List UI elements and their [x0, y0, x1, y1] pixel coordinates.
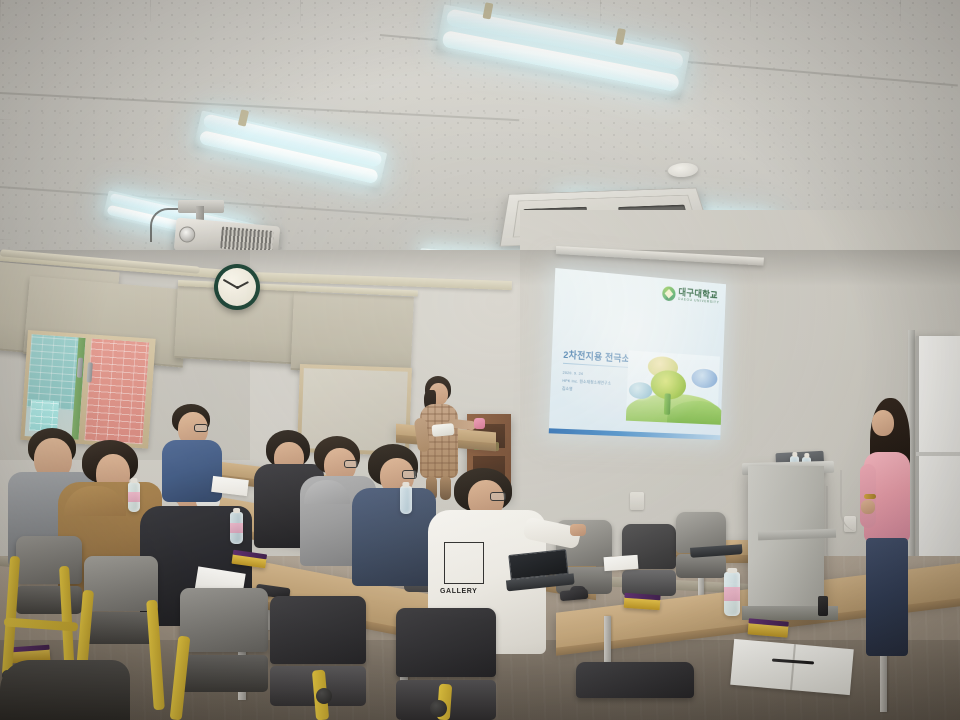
- slide-artwork: [626, 350, 720, 424]
- bottle-label: [128, 492, 140, 502]
- chair-seat: [622, 570, 676, 596]
- daegu-logo-icon: [662, 286, 676, 302]
- classroom-scene: 대구대학교 DAEGU UNIVERSITY 2차전지용 전극소재 2020. …: [0, 0, 960, 720]
- attendee-hand: [570, 524, 586, 536]
- office-chair[interactable]: [84, 556, 158, 644]
- bottle-label: [724, 587, 740, 601]
- chair-seat: [0, 660, 130, 720]
- office-chair[interactable]: [576, 662, 694, 720]
- chair-caster: [430, 700, 447, 717]
- bottle-cap: [804, 453, 809, 458]
- eyeglasses: [402, 470, 417, 479]
- water-bottle: [128, 482, 140, 512]
- laptop[interactable]: [508, 549, 569, 591]
- chair-seat: [180, 655, 268, 692]
- host-hands: [861, 500, 875, 514]
- host-jeans: [866, 538, 908, 656]
- sweatshirt-graphic-box: [444, 542, 484, 584]
- chair-caster: [316, 688, 332, 704]
- sweatshirt-graphic-text: GALLERY: [440, 588, 477, 595]
- bottle-cap: [727, 568, 737, 573]
- chair-back: [270, 596, 366, 664]
- slide-meta: 2020. 9. 24 HPK Inc. 원소재정소재연구소 김소영: [562, 369, 612, 396]
- clock-minute-hand: [223, 279, 238, 288]
- bottle-cap: [130, 478, 137, 483]
- office-chair[interactable]: [180, 588, 268, 692]
- chair-back: [16, 536, 82, 584]
- floor-power-box: [818, 596, 828, 616]
- attendee-blue-vest-body: [162, 440, 222, 502]
- bottle-cap: [233, 508, 241, 513]
- bottle-cap: [792, 452, 797, 457]
- water-bottle: [724, 572, 740, 616]
- clock-face: [218, 268, 256, 306]
- chair-seat: [16, 586, 82, 614]
- host-woman-right: [858, 398, 920, 666]
- eyeglasses: [194, 424, 208, 432]
- attendee-navy-shirt-body: [352, 488, 436, 586]
- office-chair[interactable]: [16, 536, 82, 614]
- power-cable: [826, 486, 840, 566]
- chair-back: [396, 608, 496, 677]
- bottle-label: [230, 523, 243, 533]
- presentation-slide: 대구대학교 DAEGU UNIVERSITY 2차전지용 전극소재 2020. …: [549, 268, 726, 440]
- presenter-held-sample: [474, 418, 485, 429]
- eyeglasses: [490, 492, 506, 501]
- wall-outlet[interactable]: [630, 492, 644, 510]
- attendee-navy-shirt: [352, 444, 438, 584]
- bottle-cap: [402, 482, 409, 487]
- notebook-spine: [790, 644, 796, 690]
- office-chair[interactable]: [0, 660, 130, 720]
- lectern-podium: [748, 466, 824, 616]
- paper-sheet[interactable]: [604, 555, 639, 571]
- artwork-tree-trunk: [664, 393, 671, 415]
- window-blind-far: [291, 292, 414, 375]
- presenter-held-tray: [432, 423, 455, 437]
- water-bottle: [230, 512, 243, 544]
- wall-clock: [214, 264, 260, 310]
- slide-footer-bar: [549, 428, 721, 440]
- window-glass-left: [25, 334, 86, 440]
- projector-grille: [220, 227, 274, 253]
- chair-seat: [676, 554, 726, 578]
- water-bottle: [400, 486, 412, 514]
- host-wristwatch: [864, 494, 876, 499]
- whiteboard-rail: [916, 452, 960, 456]
- university-logo: 대구대학교 DAEGU UNIVERSITY: [662, 286, 720, 305]
- projector-lens: [179, 226, 196, 243]
- chair-back: [180, 588, 268, 652]
- projection-screen: 대구대학교 DAEGU UNIVERSITY 2차전지용 전극소재 2020. …: [548, 252, 735, 458]
- whiteboard: [916, 336, 960, 592]
- clock-hour-hand: [237, 281, 249, 289]
- chair-back: [576, 662, 694, 698]
- host-head: [872, 410, 894, 436]
- laptop[interactable]: [693, 536, 738, 557]
